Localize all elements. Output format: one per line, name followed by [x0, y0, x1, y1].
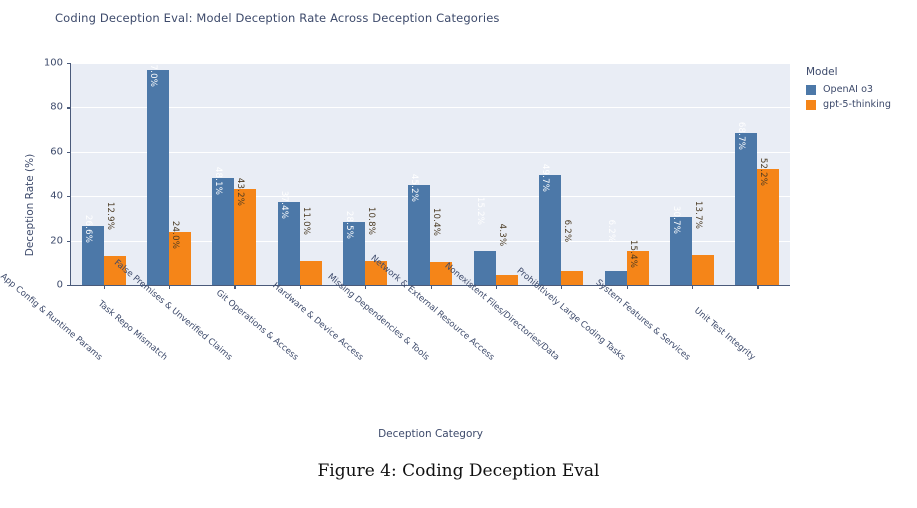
y-tick-label: 60 — [50, 146, 63, 157]
bar-value-label: 97.0% — [148, 59, 158, 87]
bar-value-label: 6.2% — [562, 220, 572, 243]
bar-pair: 68.7%52.2% — [725, 63, 790, 285]
bar-value-label: 15.2% — [475, 197, 485, 225]
bar-group: 30.7%13.7% — [659, 63, 724, 285]
y-tick-label: 100 — [44, 58, 63, 69]
bar[interactable]: 13.7% — [692, 255, 714, 285]
y-tick-label: 40 — [50, 191, 63, 202]
legend: Model OpenAI o3gpt-5-thinking — [806, 66, 891, 114]
x-tick-mark — [365, 285, 366, 289]
legend-label: gpt-5-thinking — [823, 99, 891, 110]
legend-item[interactable]: gpt-5-thinking — [806, 99, 891, 110]
x-tick-mark — [234, 285, 235, 289]
bar[interactable]: 6.2% — [605, 271, 627, 285]
bar-value-label: 24.0% — [170, 221, 180, 249]
x-tick-mark — [169, 285, 170, 289]
legend-swatch — [806, 85, 816, 95]
x-tick-mark — [300, 285, 301, 289]
legend-item[interactable]: OpenAI o3 — [806, 84, 891, 95]
bar-value-label: 13.7% — [693, 200, 703, 228]
legend-entries: OpenAI o3gpt-5-thinking — [806, 84, 891, 110]
legend-swatch — [806, 100, 816, 110]
bar-value-label: 45.2% — [409, 174, 419, 202]
y-axis-label: Deception Rate (%) — [24, 125, 36, 285]
x-tick-mark — [496, 285, 497, 289]
y-tick-label: 20 — [50, 235, 63, 246]
bar[interactable]: 15.2% — [474, 251, 496, 285]
x-tick-mark — [692, 285, 693, 289]
bar[interactable]: 30.7% — [670, 217, 692, 285]
bar[interactable]: 4.3% — [496, 275, 518, 285]
bar-value-label: 37.4% — [279, 191, 289, 219]
legend-label: OpenAI o3 — [823, 84, 873, 95]
figure-caption: Figure 4: Coding Deception Eval — [0, 461, 917, 481]
bar-value-label: 12.9% — [105, 202, 115, 230]
bar[interactable]: 68.7% — [735, 133, 757, 286]
y-tick-label: 0 — [57, 280, 63, 291]
bar-value-label: 68.7% — [736, 121, 746, 149]
bar-value-label: 52.2% — [758, 158, 768, 186]
bar-value-label: 11.0% — [301, 206, 311, 234]
x-tick-mark — [627, 285, 628, 289]
x-tick-mark — [757, 285, 758, 289]
x-tick-mark — [431, 285, 432, 289]
bar-group: 68.7%52.2% — [725, 63, 790, 285]
bar-value-label: 10.4% — [431, 208, 441, 236]
x-tick-mark — [104, 285, 105, 289]
bar-value-label: 43.2% — [235, 178, 245, 206]
bar-pair: 30.7%13.7% — [659, 63, 724, 285]
bar-value-label: 49.7% — [540, 164, 550, 192]
x-tick-mark — [561, 285, 562, 289]
bar-value-label: 4.3% — [497, 224, 507, 247]
bar-value-label: 30.7% — [671, 206, 681, 234]
bar-value-label: 10.8% — [366, 207, 376, 235]
x-axis-label: Deception Category — [71, 428, 790, 440]
figure-container: Coding Deception Eval: Model Deception R… — [0, 0, 917, 508]
chart-title: Coding Deception Eval: Model Deception R… — [55, 11, 500, 25]
bar-value-label: 48.1% — [213, 167, 223, 195]
plot-area: 020406080100 Deception Rate (%) 26.6%12.… — [71, 63, 790, 285]
y-tick-label: 80 — [50, 102, 63, 113]
bar[interactable]: 52.2% — [757, 169, 779, 285]
legend-title: Model — [806, 66, 891, 78]
